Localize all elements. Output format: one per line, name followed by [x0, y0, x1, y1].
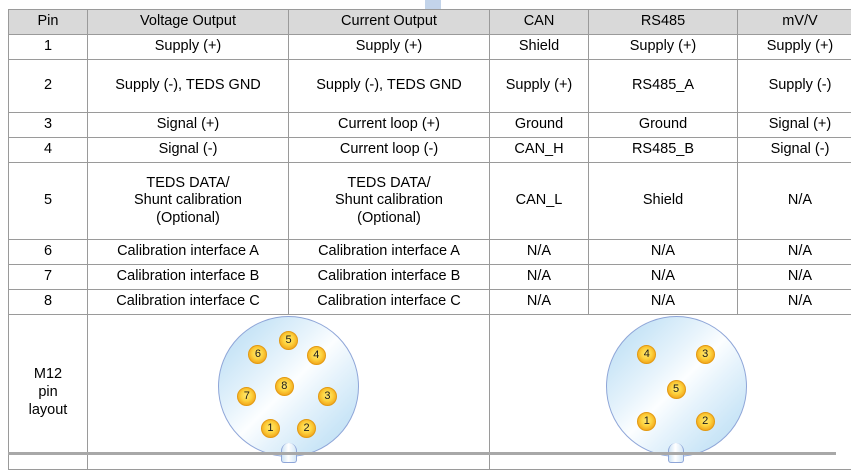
connector-pin-7: 7: [237, 387, 256, 406]
cell-mvv: N/A: [738, 265, 851, 290]
table-row: 3 Signal (+) Current loop (+) Ground Gro…: [9, 113, 851, 138]
table-row: 8 Calibration interface C Calibration in…: [9, 290, 851, 315]
cell-voltage: Calibration interface A: [88, 240, 289, 265]
eight-pin-diagram-wrapper: 12345678: [90, 316, 487, 468]
five-pin-diagram-wrapper: 12345: [492, 316, 851, 468]
m12-pinout-table: Pin Voltage Output Current Output CAN RS…: [8, 9, 851, 470]
table-row: 6 Calibration interface A Calibration in…: [9, 240, 851, 265]
connector-pin-2: 2: [297, 419, 316, 438]
table-row: 2 Supply (-), TEDS GND Supply (-), TEDS …: [9, 60, 851, 113]
connector-pin-3: 3: [696, 345, 715, 364]
m12-pin-layout-label-cell: M12 pin layout: [9, 315, 88, 470]
connector-pin-5: 5: [279, 331, 298, 350]
eight-pin-connector-diagram: 12345678: [218, 316, 359, 457]
pin-layout-row: M12 pin layout 12345678 12345: [9, 315, 851, 470]
m12-pin-layout-label: M12 pin layout: [11, 365, 85, 419]
connector-pin-4: 4: [637, 345, 656, 364]
cell-mvv: N/A: [738, 290, 851, 315]
cell-pin: 4: [9, 138, 88, 163]
table-row: 5 TEDS DATA/ Shunt calibration (Optional…: [9, 163, 851, 240]
column-header-rs485: RS485: [589, 10, 738, 35]
cell-pin: 5: [9, 163, 88, 240]
column-header-current-output: Current Output: [289, 10, 490, 35]
cell-rs485: N/A: [589, 290, 738, 315]
cell-can: Ground: [490, 113, 589, 138]
cell-current: Calibration interface C: [289, 290, 490, 315]
cell-can: Supply (+): [490, 60, 589, 113]
cell-mvv: N/A: [738, 163, 851, 240]
eight-pin-connector-cell: 12345678: [88, 315, 490, 470]
cell-voltage: Calibration interface C: [88, 290, 289, 315]
cell-rs485: RS485_B: [589, 138, 738, 163]
connector-pin-4: 4: [307, 346, 326, 365]
cell-rs485: N/A: [589, 240, 738, 265]
cell-voltage: Calibration interface B: [88, 265, 289, 290]
cell-can: N/A: [490, 265, 589, 290]
cell-voltage: Supply (+): [88, 35, 289, 60]
connector-pin-8: 8: [275, 377, 294, 396]
cell-pin: 6: [9, 240, 88, 265]
five-pin-connector-cell: 12345: [490, 315, 851, 470]
cell-voltage: TEDS DATA/ Shunt calibration (Optional): [88, 163, 289, 240]
cell-can: N/A: [490, 240, 589, 265]
table-header-row: Pin Voltage Output Current Output CAN RS…: [9, 10, 851, 35]
cell-can: CAN_L: [490, 163, 589, 240]
cell-can: N/A: [490, 290, 589, 315]
connector-pin-2: 2: [696, 412, 715, 431]
cell-rs485: Shield: [589, 163, 738, 240]
cell-pin: 3: [9, 113, 88, 138]
cell-current: Current loop (+): [289, 113, 490, 138]
cell-mvv: Supply (-): [738, 60, 851, 113]
cell-pin: 1: [9, 35, 88, 60]
connector-pin-1: 1: [261, 419, 280, 438]
cell-mvv: Signal (+): [738, 113, 851, 138]
cell-rs485: RS485_A: [589, 60, 738, 113]
five-pin-connector-diagram: 12345: [606, 316, 747, 457]
cell-pin: 8: [9, 290, 88, 315]
column-header-can: CAN: [490, 10, 589, 35]
table-row: 7 Calibration interface B Calibration in…: [9, 265, 851, 290]
cell-voltage: Signal (-): [88, 138, 289, 163]
cell-pin: 7: [9, 265, 88, 290]
table-bottom-shadow: [8, 452, 836, 455]
cell-current: Calibration interface A: [289, 240, 490, 265]
cell-rs485: Ground: [589, 113, 738, 138]
cell-can: Shield: [490, 35, 589, 60]
cell-current: Calibration interface B: [289, 265, 490, 290]
column-header-voltage-output: Voltage Output: [88, 10, 289, 35]
cell-pin: 2: [9, 60, 88, 113]
cell-current: Supply (+): [289, 35, 490, 60]
connector-pin-1: 1: [637, 412, 656, 431]
cell-current: TEDS DATA/ Shunt calibration (Optional): [289, 163, 490, 240]
cell-current: Current loop (-): [289, 138, 490, 163]
connector-pin-6: 6: [248, 345, 267, 364]
cell-mvv: Supply (+): [738, 35, 851, 60]
cell-rs485: Supply (+): [589, 35, 738, 60]
cell-current: Supply (-), TEDS GND: [289, 60, 490, 113]
cell-rs485: N/A: [589, 265, 738, 290]
column-header-pin: Pin: [9, 10, 88, 35]
column-header-mvv: mV/V: [738, 10, 851, 35]
table-row: 4 Signal (-) Current loop (-) CAN_H RS48…: [9, 138, 851, 163]
table-row: 1 Supply (+) Supply (+) Shield Supply (+…: [9, 35, 851, 60]
connector-pin-3: 3: [318, 387, 337, 406]
cell-can: CAN_H: [490, 138, 589, 163]
cell-voltage: Supply (-), TEDS GND: [88, 60, 289, 113]
connector-pin-5: 5: [667, 380, 686, 399]
cell-voltage: Signal (+): [88, 113, 289, 138]
top-blue-tab-artifact: [425, 0, 441, 9]
cell-mvv: N/A: [738, 240, 851, 265]
cell-mvv: Signal (-): [738, 138, 851, 163]
